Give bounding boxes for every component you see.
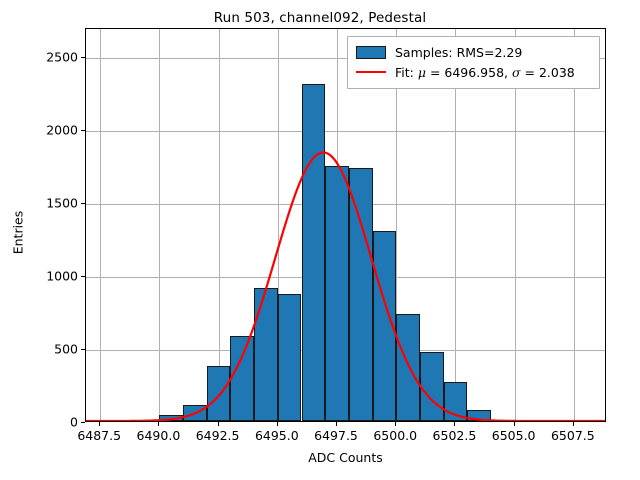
y-tick-mark [81,276,85,277]
fit-path [86,152,605,421]
y-tick-label: 0 [0,415,78,430]
legend-patch-icon [356,46,386,59]
x-tick-label: 6490.0 [137,428,181,443]
figure-canvas: Run 503, channel092, Pedestal 6487.56490… [0,0,640,480]
y-tick-label: 500 [0,342,78,357]
legend-item-samples: Samples: RMS=2.29 [356,42,591,62]
x-tick-mark [395,422,396,426]
legend-item-fit: Fit: μ = 6496.958, σ = 2.038 [356,62,591,82]
x-tick-label: 6497.5 [314,428,358,443]
x-tick-mark [158,422,159,426]
x-tick-mark [336,422,337,426]
y-tick-mark [81,422,85,423]
y-tick-label: 2500 [0,50,78,65]
y-tick-label: 2000 [0,123,78,138]
x-tick-label: 6495.0 [255,428,299,443]
x-tick-label: 6507.5 [551,428,595,443]
x-tick-label: 6487.5 [77,428,121,443]
y-tick-mark [81,57,85,58]
x-tick-mark [454,422,455,426]
legend-label-fit: Fit: μ = 6496.958, σ = 2.038 [395,65,575,80]
chart-legend: Samples: RMS=2.29 Fit: μ = 6496.958, σ =… [347,36,600,89]
x-tick-label: 6492.5 [196,428,240,443]
x-tick-mark [99,422,100,426]
x-tick-mark [573,422,574,426]
mu-symbol: μ [418,65,426,80]
y-tick-mark [81,130,85,131]
y-tick-mark [81,349,85,350]
x-tick-label: 6500.0 [373,428,417,443]
legend-line-icon [356,71,386,73]
x-tick-mark [277,422,278,426]
sigma-value: = 2.038 [521,65,575,80]
x-tick-mark [218,422,219,426]
chart-title: Run 503, channel092, Pedestal [0,10,640,26]
x-tick-mark [514,422,515,426]
legend-label-samples: Samples: RMS=2.29 [395,45,522,60]
x-tick-label: 6502.5 [433,428,477,443]
sigma-symbol: σ [512,65,521,80]
y-axis-label: Entries [11,153,26,313]
mu-value: = 6496.958, [426,65,512,80]
fit-prefix: Fit: [395,65,418,80]
y-tick-mark [81,203,85,204]
x-axis-label: ADC Counts [85,450,606,465]
x-tick-label: 6505.0 [492,428,536,443]
